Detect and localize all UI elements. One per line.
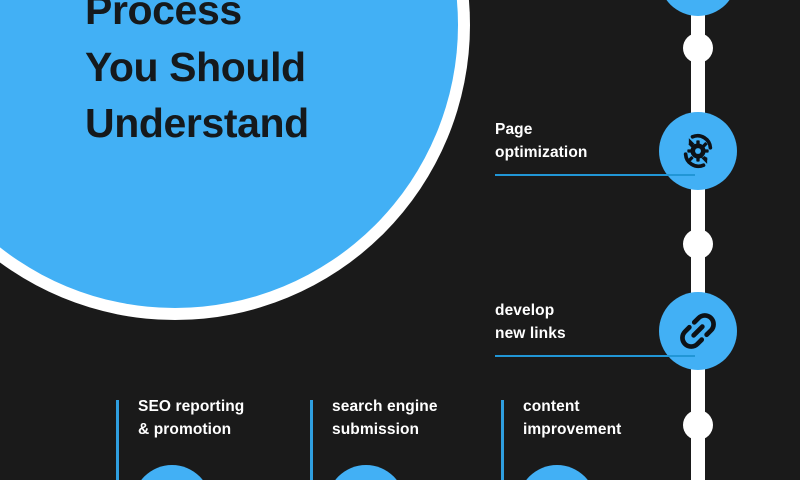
step-underline	[495, 174, 695, 177]
timeline-node-top[interactable]	[659, 0, 737, 16]
timeline-dot-1	[683, 33, 713, 63]
bottom-step-label: search engine submission	[332, 396, 502, 442]
step-label-page-optimization: Page optimization	[495, 119, 695, 176]
page-title: Process You Should Understand	[85, 0, 415, 152]
bottom-step-label: SEO reporting & promotion	[138, 396, 308, 442]
bottom-step-bar	[501, 400, 504, 480]
step-label-develop-new-links: develop new links	[495, 300, 695, 357]
bottom-node-content-improvement[interactable]	[518, 465, 596, 480]
bottom-step-bar	[310, 400, 313, 480]
bottom-step-label: content improvement	[523, 396, 693, 442]
step-label-text: Page optimization	[495, 119, 695, 165]
step-underline	[495, 355, 695, 358]
infographic-canvas: Process You Should Understand	[0, 0, 800, 480]
bottom-node-search-engine-submission[interactable]	[327, 465, 405, 480]
timeline-dot-2	[683, 229, 713, 259]
step-label-text: develop new links	[495, 300, 695, 346]
bottom-step-bar	[116, 400, 119, 480]
bottom-node-seo-reporting[interactable]	[133, 465, 211, 480]
